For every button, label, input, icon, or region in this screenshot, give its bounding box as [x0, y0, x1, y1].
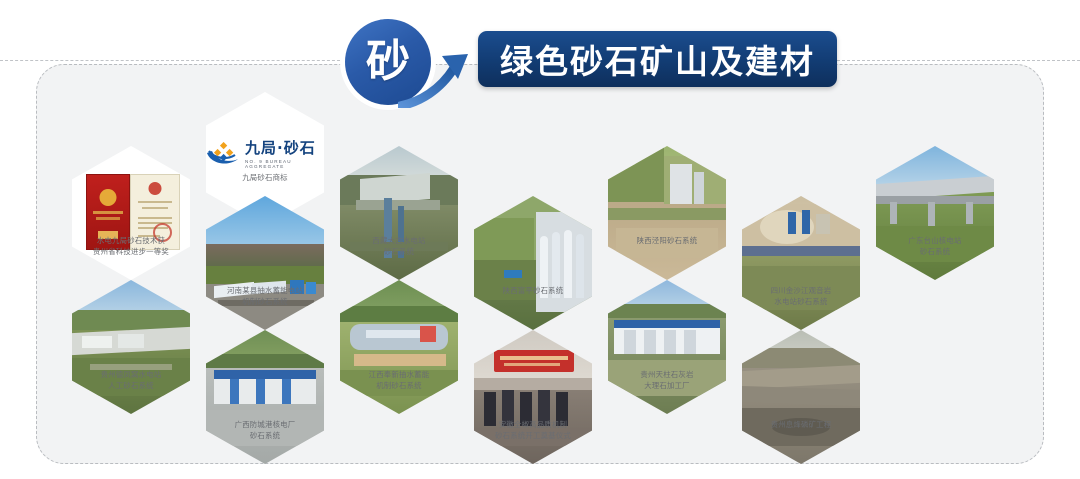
header-rule-right	[812, 60, 1080, 61]
poster-header: 砂 绿色砂石矿山及建材	[0, 0, 1080, 110]
caption-tile-guizhou-xique: 贵州息烽磷矿工程	[726, 420, 876, 431]
page-title: 绿色砂石矿山及建材	[500, 35, 815, 83]
caption-tile-cert: 水电九局砂石技术获 贵州省科技进步一等奖	[56, 236, 206, 257]
header-rule-left	[0, 60, 345, 61]
caption-tile-sichuan-guanyinyan: 四川金沙江观音岩 水电站砂石系统	[726, 286, 876, 307]
brand-name-en: NO. 9 BUREAU AGGREGATE	[245, 159, 324, 169]
caption-tile-guizhou-dongfengwo: 贵州德凤窝水电站 人工砂石系统	[56, 370, 206, 391]
caption-tile-shaanxi-jingyang: 陕西泾阳砂石系统	[592, 236, 742, 247]
title-banner: 绿色砂石矿山及建材	[478, 31, 837, 87]
caption-tile-henan: 河南某县抽水蓄能电站 机制砂石系统	[190, 286, 340, 307]
caption-tile-guangdong-taishan: 广东台山核电站 砂石系统	[860, 236, 1010, 257]
brand-logo-text: 九局·砂石 NO. 9 BUREAU AGGREGATE	[245, 141, 324, 169]
caption-tile-shaanxi-fuping: 陕西富平砂石系统	[458, 286, 608, 297]
brand-logo: 九局·砂石 NO. 9 BUREAU AGGREGATE	[206, 141, 324, 169]
caption-tile-logo: 九局砂石商标	[190, 173, 340, 184]
caption-tile-xizang: 西藏大古水电站 砂石系统	[324, 236, 474, 257]
caption-tile-guangxi-fangchenggang: 广西防城港核电厂 砂石系统	[190, 420, 340, 441]
brand-name-cn: 九局·砂石	[245, 141, 316, 156]
swoosh-diamonds-icon	[206, 142, 240, 168]
poster-root: 砂 绿色砂石矿山及建材	[0, 0, 1080, 479]
curved-arrow-icon	[398, 52, 488, 108]
caption-tile-anhui-quanjiao: 安徽全椒高品质机制 砂石系统开工奠基仪式	[458, 420, 608, 441]
caption-tile-guizhou-tianzhu: 贵州天柱石灰岩 大理石加工厂	[592, 370, 742, 391]
caption-tile-jiangxi-fengxin: 江西奉新抽水蓄能 机制砂石系统	[324, 370, 474, 391]
